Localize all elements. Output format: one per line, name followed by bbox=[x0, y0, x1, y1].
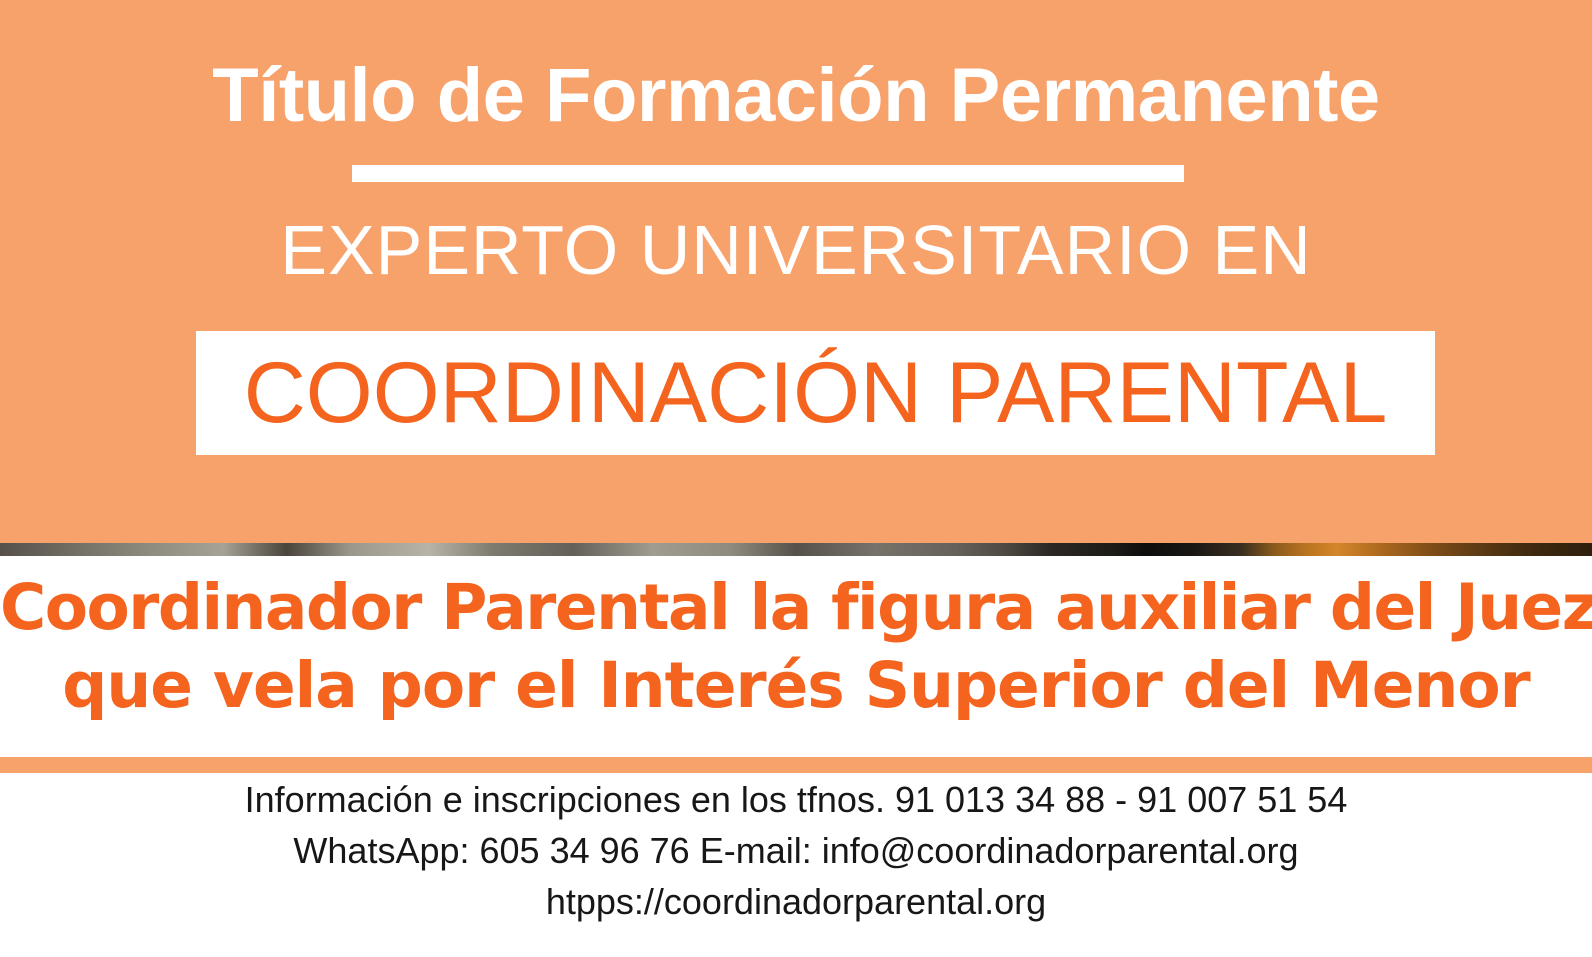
title-divider-rule bbox=[352, 165, 1184, 182]
contact-whatsapp-email: WhatsApp: 605 34 96 76 E-mail: info@coor… bbox=[0, 829, 1592, 873]
program-name-highlight-box: COORDINACIÓN PARENTAL bbox=[196, 331, 1435, 455]
promotional-poster: Título de Formación Permanente EXPERTO U… bbox=[0, 0, 1592, 957]
page-title: Título de Formación Permanente bbox=[0, 50, 1592, 142]
contact-phones: Información e inscripciones en los tfnos… bbox=[0, 778, 1592, 822]
tagline-line-1: Coordinador Parental la figura auxiliar … bbox=[0, 570, 1592, 646]
program-name-text: COORDINACIÓN PARENTAL bbox=[244, 343, 1388, 443]
section-separator-bar bbox=[0, 757, 1592, 773]
tagline-line-2: que vela por el Interés Superior del Men… bbox=[0, 648, 1592, 724]
program-type-subtitle: EXPERTO UNIVERSITARIO EN bbox=[0, 208, 1592, 292]
photo-strip-decoration bbox=[0, 543, 1592, 556]
contact-website: htpps://coordinadorparental.org bbox=[0, 880, 1592, 924]
